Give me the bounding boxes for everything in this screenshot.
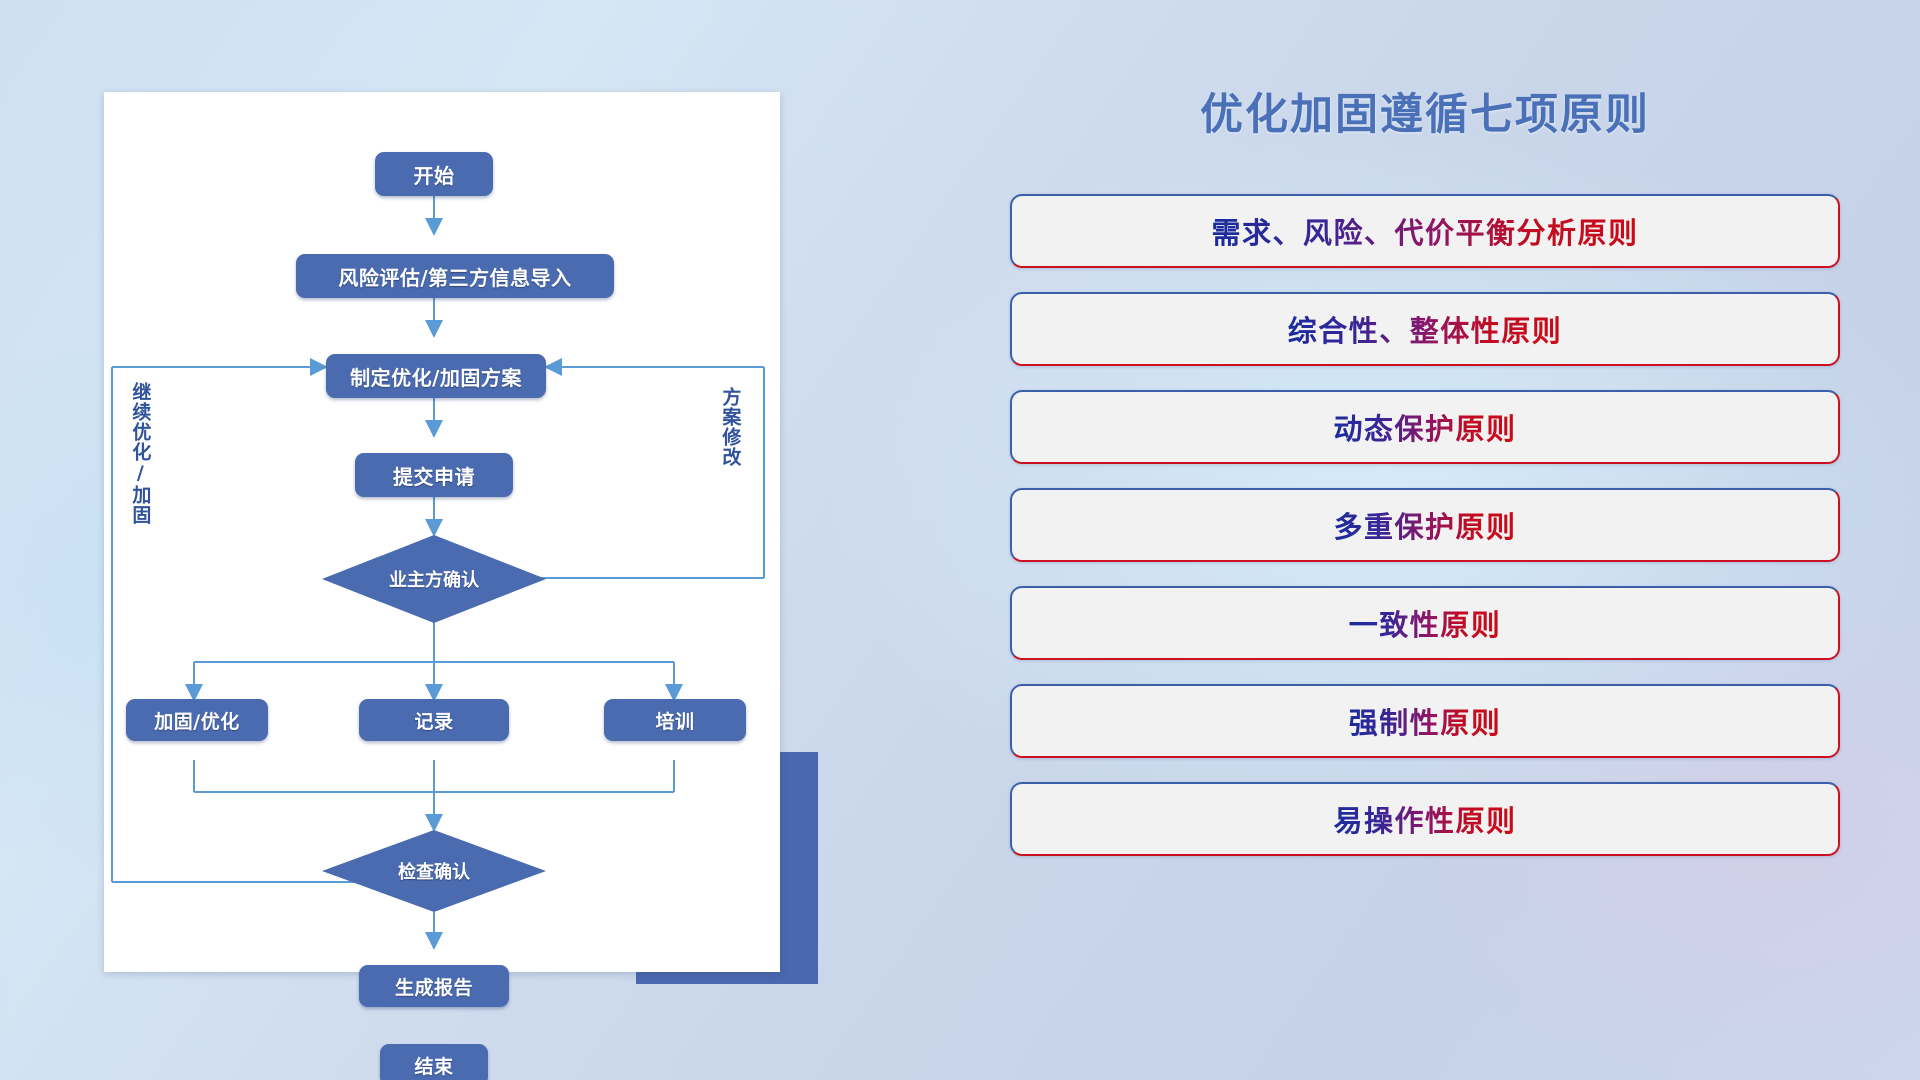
principle-label: 强制性原则 xyxy=(1349,700,1502,742)
principle-item[interactable]: 多重保护原则 xyxy=(1010,488,1840,562)
flow-node-start[interactable]: 开始 xyxy=(375,152,493,196)
flow-node-label: 风险评估/第三方信息导入 xyxy=(338,262,571,291)
principle-label: 一致性原则 xyxy=(1349,602,1502,644)
principles-panel: 优化加固遵循七项原则 需求、风险、代价平衡分析原则 综合性、整体性原则 动态保护… xyxy=(1010,80,1840,1030)
flow-node-label: 业主方确认 xyxy=(389,566,479,592)
flow-node-label: 提交申请 xyxy=(393,461,475,490)
principle-item[interactable]: 动态保护原则 xyxy=(1010,390,1840,464)
flow-node-label: 培训 xyxy=(655,707,694,734)
flow-node-label: 结束 xyxy=(414,1052,453,1079)
flow-node-label: 记录 xyxy=(414,707,453,734)
flow-node-label: 加固/优化 xyxy=(154,707,239,734)
principle-item[interactable]: 易操作性原则 xyxy=(1010,782,1840,856)
flow-node-label: 生成报告 xyxy=(395,973,473,1000)
flow-node-reinforce-optimize[interactable]: 加固/优化 xyxy=(126,699,268,741)
principle-label: 综合性、整体性原则 xyxy=(1288,308,1563,350)
principle-label: 易操作性原则 xyxy=(1333,798,1516,840)
flow-node-generate-report[interactable]: 生成报告 xyxy=(359,965,509,1007)
principle-item[interactable]: 强制性原则 xyxy=(1010,684,1840,758)
principle-label: 动态保护原则 xyxy=(1333,406,1516,448)
principle-item[interactable]: 需求、风险、代价平衡分析原则 xyxy=(1010,194,1840,268)
flow-node-plan[interactable]: 制定优化/加固方案 xyxy=(326,354,546,398)
flow-node-training[interactable]: 培训 xyxy=(604,699,746,741)
flow-node-record[interactable]: 记录 xyxy=(359,699,509,741)
flow-edge-label-plan-revision: 方案修改 xyxy=(720,387,739,517)
flow-node-label: 检查确认 xyxy=(398,858,470,884)
flow-node-risk-assessment[interactable]: 风险评估/第三方信息导入 xyxy=(296,254,614,298)
flow-edge-label-continue-optimize: 继续优化/加固 xyxy=(130,382,149,562)
flow-node-label: 开始 xyxy=(414,160,455,189)
principle-label: 多重保护原则 xyxy=(1333,504,1516,546)
flowchart-card: 开始 风险评估/第三方信息导入 制定优化/加固方案 提交申请 业主方确认 加固/… xyxy=(104,92,780,972)
panel-title: 优化加固遵循七项原则 xyxy=(1010,80,1840,142)
principle-item[interactable]: 综合性、整体性原则 xyxy=(1010,292,1840,366)
flow-node-end[interactable]: 结束 xyxy=(380,1044,488,1080)
principle-item[interactable]: 一致性原则 xyxy=(1010,586,1840,660)
flow-node-submit-application[interactable]: 提交申请 xyxy=(355,453,513,497)
flow-node-label: 制定优化/加固方案 xyxy=(350,362,522,391)
principle-label: 需求、风险、代价平衡分析原则 xyxy=(1211,210,1638,252)
